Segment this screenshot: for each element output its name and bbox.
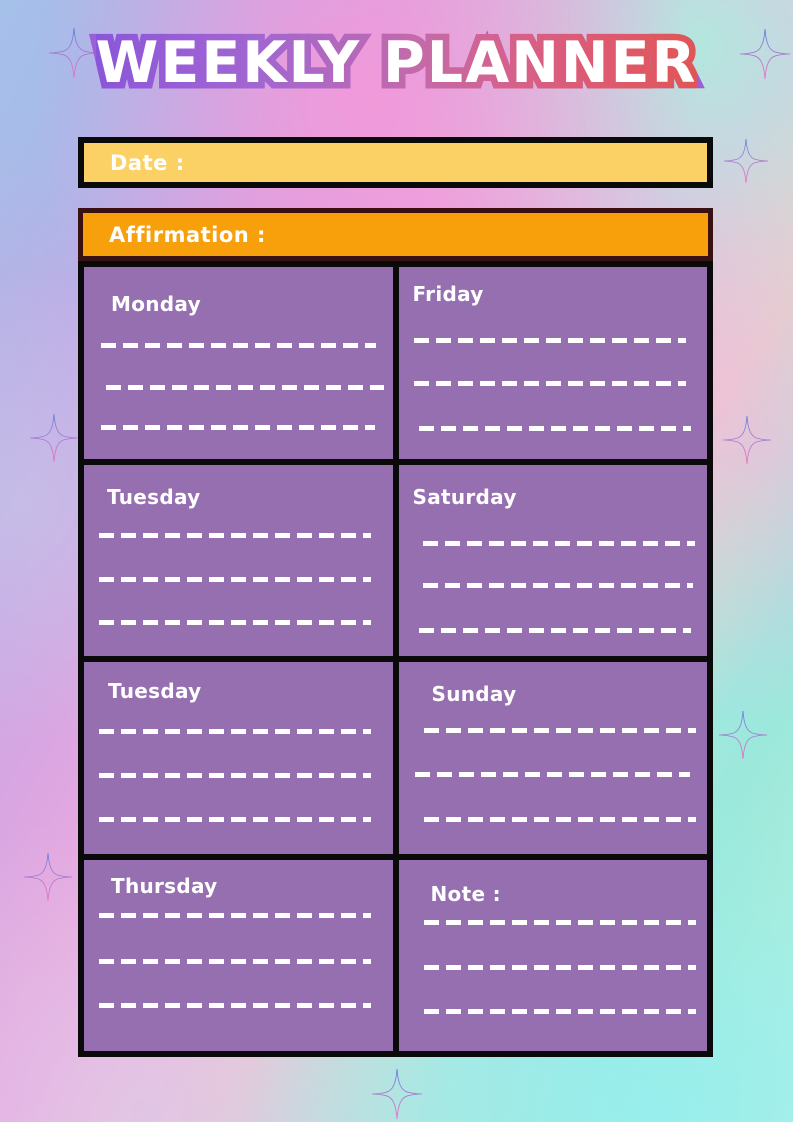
planner-grid: MondayFridayTuesdaySaturdayTuesdaySunday… [78, 261, 713, 1057]
planner-write-line[interactable] [99, 620, 371, 625]
page-title-text: WEEKLY PLANNER [96, 30, 698, 96]
planner-cell[interactable]: Tuesday [84, 465, 393, 657]
planner-cell-label: Friday [413, 282, 484, 306]
planner-write-line[interactable] [99, 533, 371, 538]
planner-write-line[interactable] [101, 425, 375, 430]
page-title-wrapper: WEEKLY PLANNER WEEKLY PLANNER WEEKLY PLA… [0, 34, 793, 94]
planner-write-line[interactable] [99, 913, 371, 918]
planner-write-line[interactable] [424, 728, 696, 733]
planner-write-line[interactable] [99, 817, 371, 822]
planner-write-line[interactable] [419, 628, 691, 633]
planner-cell[interactable]: Saturday [399, 465, 708, 657]
planner-cell[interactable]: Note : [399, 860, 708, 1052]
planner-cell-label: Tuesday [108, 679, 202, 703]
planner-cell[interactable]: Tuesday [84, 662, 393, 854]
page-title: WEEKLY PLANNER WEEKLY PLANNER WEEKLY PLA… [96, 34, 698, 94]
planner-write-line[interactable] [99, 773, 371, 778]
affirmation-label: Affirmation : [109, 223, 266, 247]
date-label: Date : [110, 151, 185, 175]
planner-cell-label: Sunday [432, 682, 517, 706]
planner-write-line[interactable] [106, 385, 384, 390]
planner-write-line[interactable] [99, 729, 371, 734]
planner-write-line[interactable] [424, 817, 696, 822]
planner-write-line[interactable] [423, 541, 695, 546]
planner-write-line[interactable] [101, 343, 376, 348]
planner-cell[interactable]: Friday [399, 267, 708, 459]
planner-cell[interactable]: Thursday [84, 860, 393, 1052]
planner-write-line[interactable] [99, 577, 371, 582]
planner-cell[interactable]: Monday [84, 267, 393, 459]
planner-write-line[interactable] [423, 583, 693, 588]
planner-write-line[interactable] [424, 965, 696, 970]
planner-write-line[interactable] [415, 772, 690, 777]
planner-write-line[interactable] [99, 959, 371, 964]
planner-cell-label: Monday [111, 292, 201, 316]
planner-cell[interactable]: Sunday [399, 662, 708, 854]
planner-page: WEEKLY PLANNER WEEKLY PLANNER WEEKLY PLA… [0, 0, 793, 1122]
planner-cell-label: Tuesday [107, 485, 201, 509]
planner-cell-label: Note : [431, 882, 501, 906]
planner-write-line[interactable] [419, 426, 691, 431]
planner-write-line[interactable] [424, 1009, 696, 1014]
affirmation-field[interactable]: Affirmation : [78, 208, 713, 261]
planner-cell-label: Thursday [111, 874, 218, 898]
date-field[interactable]: Date : [78, 137, 713, 188]
planner-write-line[interactable] [414, 381, 686, 386]
planner-write-line[interactable] [424, 920, 696, 925]
planner-write-line[interactable] [99, 1003, 371, 1008]
planner-write-line[interactable] [414, 338, 686, 343]
planner-cell-label: Saturday [413, 485, 517, 509]
